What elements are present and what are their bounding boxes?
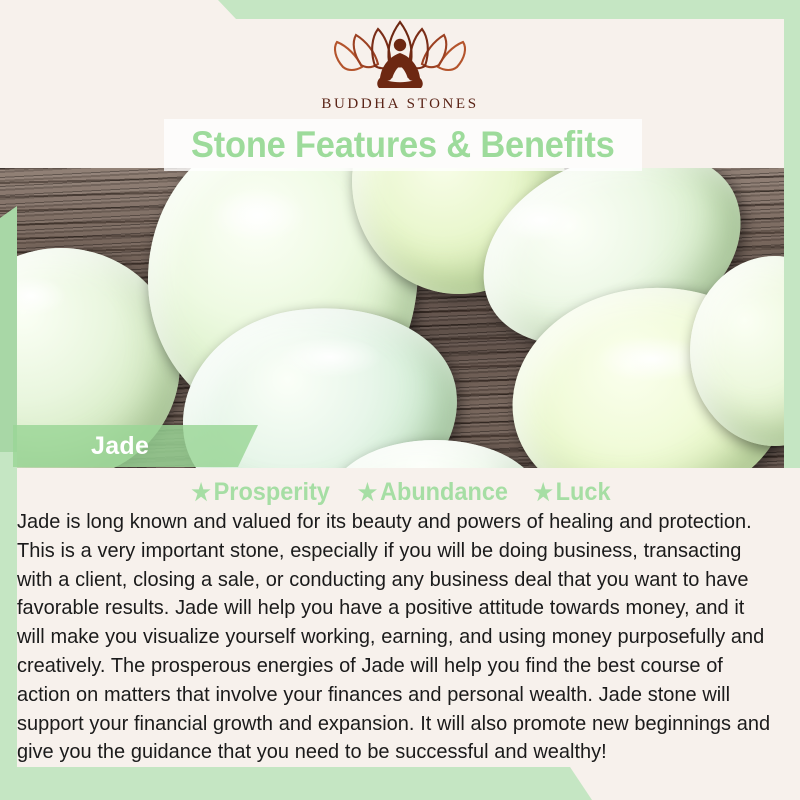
stone-name-band: Jade <box>13 425 258 467</box>
benefits-row: ★Prosperity ★Abundance ★Luck <box>0 478 800 507</box>
brand-logo: BUDDHA STONES <box>290 18 510 113</box>
description-text: Jade is long known and valued for its be… <box>17 508 777 767</box>
benefit-label: Abundance <box>380 478 508 506</box>
benefit-luck: ★Luck <box>533 478 610 507</box>
page-title: Stone Features & Benefits <box>191 124 615 166</box>
benefit-abundance: ★Abundance <box>358 478 508 507</box>
star-icon: ★ <box>358 479 377 505</box>
stone-name-label: Jade <box>91 432 149 461</box>
lotus-meditation-icon <box>325 18 475 94</box>
title-banner: Stone Features & Benefits <box>164 119 642 171</box>
benefit-label: Luck <box>556 478 611 506</box>
stone-info-poster: BUDDHA STONES Stone Features & Benefits … <box>0 0 800 800</box>
star-icon: ★ <box>191 479 210 505</box>
star-icon: ★ <box>533 479 552 505</box>
jade-stones-photo <box>0 168 800 468</box>
brand-name: BUDDHA STONES <box>290 96 510 113</box>
benefit-label: Prosperity <box>214 478 330 506</box>
frame-left-band-lower <box>0 452 17 800</box>
benefit-prosperity: ★Prosperity <box>191 478 329 507</box>
content-area: ★Prosperity ★Abundance ★Luck Jade is lon… <box>0 468 800 800</box>
